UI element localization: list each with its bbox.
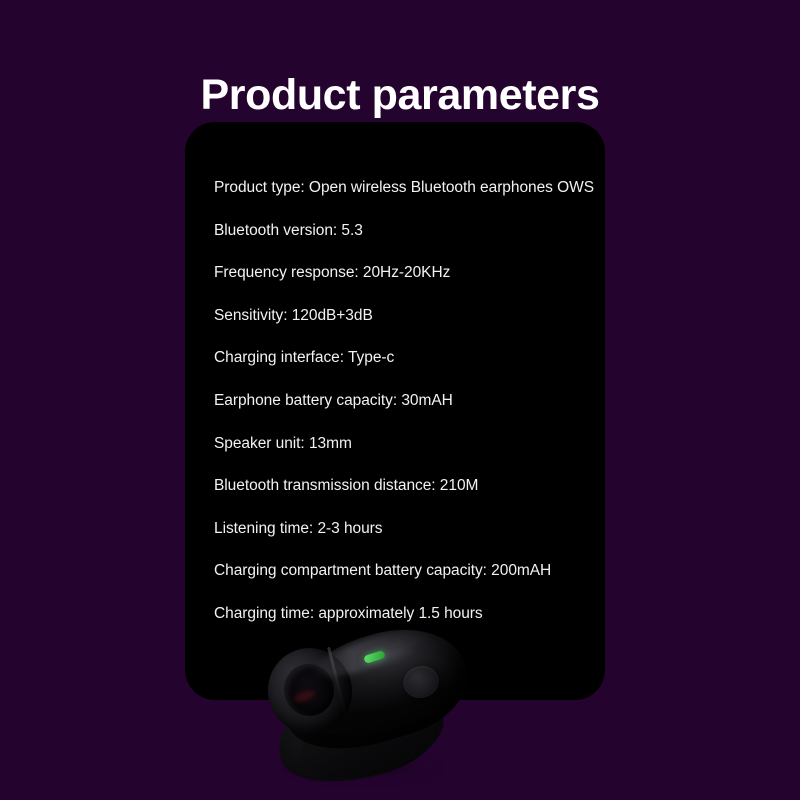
spec-item-transmission-distance: Bluetooth transmission distance: 210M xyxy=(214,476,591,496)
spec-item-charging-time: Charging time: approximately 1.5 hours xyxy=(214,604,591,624)
spec-item-listening-time: Listening time: 2-3 hours xyxy=(214,519,591,539)
specifications-list: Product type: Open wireless Bluetooth ea… xyxy=(214,178,591,624)
product-parameters-page: Product parameters Product type: Open wi… xyxy=(0,0,800,800)
spec-item-charging-interface: Charging interface: Type-c xyxy=(214,348,591,368)
spec-item-speaker-unit: Speaker unit: 13mm xyxy=(214,434,591,454)
spec-item-earphone-battery: Earphone battery capacity: 30mAH xyxy=(214,391,591,411)
page-title: Product parameters xyxy=(0,73,800,118)
specifications-card: Product type: Open wireless Bluetooth ea… xyxy=(185,122,605,700)
spec-item-bluetooth-version: Bluetooth version: 5.3 xyxy=(214,221,591,241)
product-image-earphone xyxy=(258,628,478,788)
spec-item-product-type: Product type: Open wireless Bluetooth ea… xyxy=(214,178,591,198)
spec-item-frequency-response: Frequency response: 20Hz-20KHz xyxy=(214,263,591,283)
spec-item-sensitivity: Sensitivity: 120dB+3dB xyxy=(214,306,591,326)
spec-item-case-battery: Charging compartment battery capacity: 2… xyxy=(214,561,591,581)
